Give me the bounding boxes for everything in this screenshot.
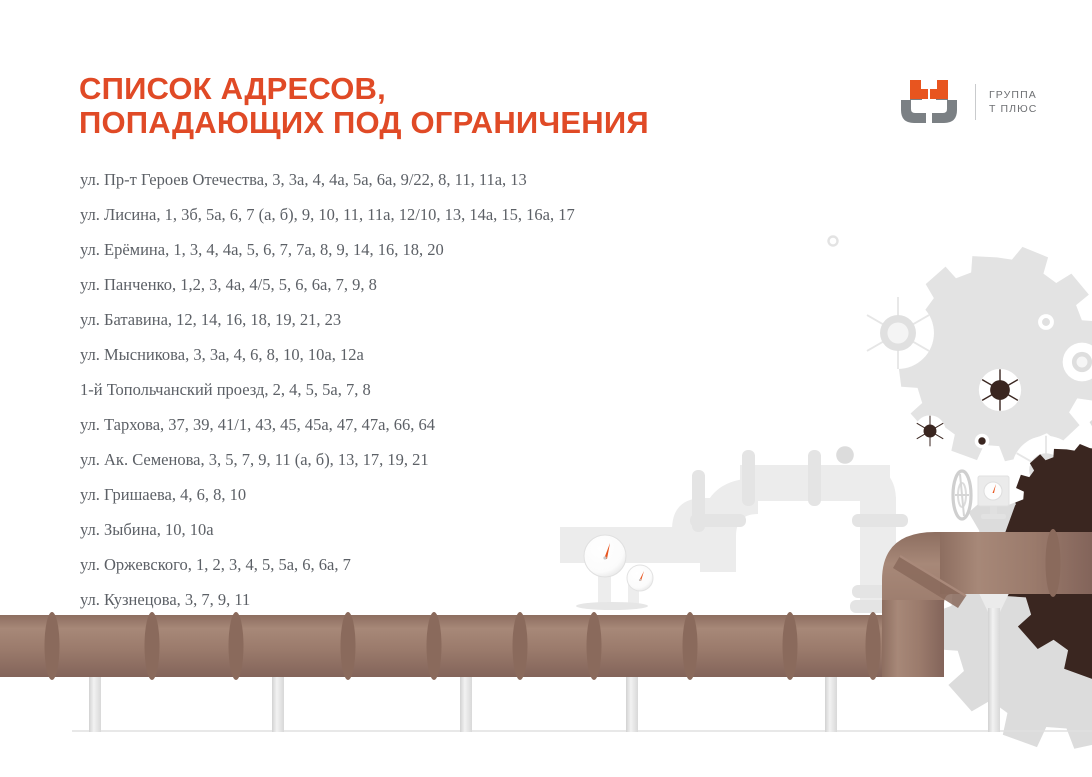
gear-dark-small bbox=[975, 434, 1092, 555]
address-list-item: ул. Ерёмина, 1, 3, 4, 4а, 5, 6, 7, 7а, 8… bbox=[80, 232, 575, 267]
address-list-item: ул. Батавина, 12, 14, 16, 18, 19, 21, 23 bbox=[80, 302, 575, 337]
logo-divider bbox=[975, 84, 976, 120]
t-plus-logo: ГРУППА Т ПЛЮС bbox=[896, 78, 1037, 126]
gear-dark bbox=[914, 415, 1092, 680]
address-list-item: ул. Тархова, 37, 39, 41/1, 43, 45, 45а, … bbox=[80, 407, 575, 442]
pressure-gauge-group bbox=[576, 535, 653, 610]
address-list-item: ул. Пр-т Героев Отечества, 3, 3а, 4, 4а,… bbox=[80, 162, 575, 197]
logo-text-line1: ГРУППА bbox=[989, 88, 1037, 102]
foreground-gears bbox=[914, 369, 1092, 735]
address-list-item: ул. Мысникова, 3, 3а, 4, 6, 8, 10, 10а, … bbox=[80, 337, 575, 372]
page-title: СПИСОК АДРЕСОВ, ПОПАДАЮЩИХ ПОД ОГРАНИЧЕН… bbox=[79, 72, 649, 140]
logo-wordmark: ГРУППА Т ПЛЮС bbox=[989, 88, 1037, 116]
slide-canvas: ГРУППА Т ПЛЮС СПИСОК АДРЕСОВ, ПОПАДАЮЩИХ… bbox=[0, 0, 1092, 777]
logo-text-line2: Т ПЛЮС bbox=[989, 102, 1037, 116]
address-list-item: ул. Панченко, 1,2, 3, 4а, 4/5, 5, 6, 6а,… bbox=[80, 267, 575, 302]
t-plus-logo-mark bbox=[896, 78, 962, 126]
page-title-line-2: ПОПАДАЮЩИХ ПОД ОГРАНИЧЕНИЯ bbox=[79, 106, 649, 140]
page-title-line-1: СПИСОК АДРЕСОВ, bbox=[79, 72, 649, 106]
address-list-item: ул. Оржевского, 1, 2, 3, 4, 5, 5а, 6, 6а… bbox=[80, 547, 575, 582]
address-list-item: 1-й Топольчанский проезд, 2, 4, 5, 5а, 7… bbox=[80, 372, 575, 407]
address-list-item: ул. Гришаева, 4, 6, 8, 10 bbox=[80, 477, 575, 512]
background-gears-gray bbox=[823, 231, 1092, 777]
address-list-item: ул. Ак. Семенова, 3, 5, 7, 9, 11 (а, б),… bbox=[80, 442, 575, 477]
address-list-item: ул. Кузнецова, 3, 7, 9, 11 bbox=[80, 582, 575, 617]
gear-orange bbox=[979, 369, 1092, 735]
address-list: ул. Пр-т Героев Отечества, 3, 3а, 4, 4а,… bbox=[80, 162, 575, 617]
valve-and-gauge-panel bbox=[953, 471, 1009, 519]
ghost-pipe-assembly bbox=[560, 450, 908, 613]
address-list-item: ул. Зыбина, 10, 10а bbox=[80, 512, 575, 547]
address-list-item: ул. Лисина, 1, 3б, 5а, 6, 7 (а, б), 9, 1… bbox=[80, 197, 575, 232]
